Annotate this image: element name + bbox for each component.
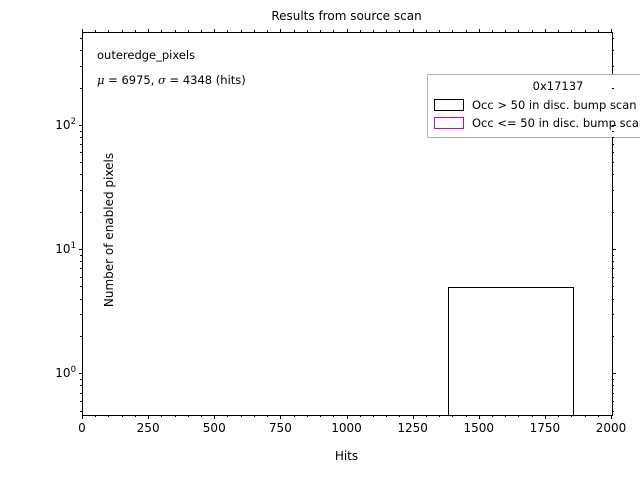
y-tick-minor-right <box>612 190 614 191</box>
y-tick-minor-right <box>612 401 614 402</box>
x-tick-minor <box>373 415 374 417</box>
x-tick-label: 500 <box>203 421 226 435</box>
x-tick-minor <box>598 415 599 417</box>
y-tick-major <box>79 125 83 126</box>
x-tick-minor <box>386 415 387 417</box>
y-tick-minor-right <box>612 393 614 394</box>
x-tick-minor <box>585 415 586 417</box>
x-tick-minor <box>426 415 427 417</box>
y-tick-major-right <box>612 373 616 374</box>
x-tick-minor <box>161 415 162 417</box>
x-tick-minor-top <box>201 30 202 32</box>
annotation-statistics: μ = 6975, σ = 4348 (hits) <box>97 68 246 93</box>
x-tick-minor <box>452 415 453 417</box>
chart-title: Results from source scan <box>82 9 611 23</box>
y-tick-minor <box>80 299 82 300</box>
x-tick-minor-top <box>294 30 295 32</box>
y-axis-label: Number of enabled pixels <box>102 39 116 421</box>
x-tick-minor <box>122 415 123 417</box>
x-tick-major-top <box>214 29 215 33</box>
x-tick-label: 1750 <box>530 421 561 435</box>
x-tick-minor <box>439 415 440 417</box>
x-tick-minor-top <box>598 30 599 32</box>
stats-units-close: ) <box>241 73 246 87</box>
x-tick-major <box>148 415 149 419</box>
y-tick-minor-right <box>612 66 614 67</box>
x-tick-minor <box>227 415 228 417</box>
x-tick-minor <box>135 415 136 417</box>
x-tick-minor-top <box>241 30 242 32</box>
x-tick-minor <box>558 415 559 417</box>
x-tick-minor <box>466 415 467 417</box>
sigma-value: 4348 <box>183 73 212 87</box>
x-tick-major-top <box>545 29 546 33</box>
plot-area: outeredge_pixels μ = 6975, σ = 4348 (hit… <box>82 32 613 416</box>
x-tick-major-top <box>82 29 83 33</box>
y-tick-minor-right <box>612 144 614 145</box>
x-tick-minor-top <box>307 30 308 32</box>
y-tick-minor-right <box>612 212 614 213</box>
y-tick-minor-right <box>612 174 614 175</box>
y-tick-minor-right <box>612 255 614 256</box>
y-tick-minor <box>80 379 82 380</box>
x-tick-label: 1250 <box>397 421 428 435</box>
y-tick-minor-right <box>612 277 614 278</box>
y-tick-minor-right <box>612 131 614 132</box>
y-tick-minor <box>80 268 82 269</box>
y-tick-minor-right <box>612 137 614 138</box>
y-tick-minor <box>80 393 82 394</box>
x-tick-minor-top <box>452 30 453 32</box>
legend-item[interactable]: Occ > 50 in disc. bump scan <box>434 96 640 114</box>
y-tick-minor <box>80 277 82 278</box>
y-tick-minor-right <box>612 261 614 262</box>
y-tick-minor <box>80 385 82 386</box>
y-tick-minor <box>80 174 82 175</box>
y-tick-major <box>79 373 83 374</box>
stats-separator: , <box>151 73 158 87</box>
annotation-dataset-label: outeredge_pixels <box>97 43 246 68</box>
x-tick-label: 1000 <box>331 421 362 435</box>
x-tick-major <box>479 415 480 419</box>
y-tick-minor <box>80 411 82 412</box>
x-tick-major <box>82 415 83 419</box>
x-tick-major <box>611 415 612 419</box>
y-tick-major-right <box>612 249 616 250</box>
y-tick-minor-right <box>612 385 614 386</box>
x-tick-minor-top <box>492 30 493 32</box>
y-tick-minor-right <box>612 268 614 269</box>
x-tick-minor <box>320 415 321 417</box>
x-tick-minor <box>492 415 493 417</box>
legend-color-patch <box>434 117 464 129</box>
y-tick-minor-right <box>612 299 614 300</box>
x-tick-minor <box>241 415 242 417</box>
y-tick-minor <box>80 162 82 163</box>
x-tick-minor <box>267 415 268 417</box>
x-tick-minor-top <box>399 30 400 32</box>
x-tick-minor-top <box>386 30 387 32</box>
sigma-equals: = <box>166 73 183 87</box>
y-tick-minor <box>80 88 82 89</box>
x-tick-major <box>413 415 414 419</box>
x-tick-minor-top <box>333 30 334 32</box>
y-tick-minor <box>80 314 82 315</box>
units-label: hits <box>220 73 241 87</box>
x-tick-minor-top <box>466 30 467 32</box>
y-tick-minor <box>80 401 82 402</box>
y-tick-minor-right <box>612 152 614 153</box>
y-tick-minor-right <box>612 38 614 39</box>
legend-rows: Occ > 50 in disc. bump scanOcc <= 50 in … <box>434 96 640 132</box>
y-tick-minor <box>80 144 82 145</box>
y-tick-minor <box>80 66 82 67</box>
y-tick-label: 101 <box>40 242 76 256</box>
legend-item-label: Occ <= 50 in disc. bump scan <box>472 117 640 130</box>
y-tick-minor-right <box>612 336 614 337</box>
x-tick-minor-top <box>267 30 268 32</box>
x-tick-minor-top <box>254 30 255 32</box>
x-tick-major <box>214 415 215 419</box>
x-tick-minor <box>505 415 506 417</box>
x-tick-minor <box>201 415 202 417</box>
y-tick-minor <box>80 38 82 39</box>
x-tick-minor-top <box>505 30 506 32</box>
legend-item[interactable]: Occ <= 50 in disc. bump scan <box>434 114 640 132</box>
x-tick-label: 0 <box>78 421 86 435</box>
x-tick-minor-top <box>188 30 189 32</box>
y-tick-minor-right <box>612 314 614 315</box>
y-tick-minor-right <box>612 88 614 89</box>
sigma-symbol: σ <box>158 73 166 87</box>
x-tick-minor <box>254 415 255 417</box>
y-tick-minor <box>80 50 82 51</box>
x-tick-minor <box>175 415 176 417</box>
x-tick-minor-top <box>360 30 361 32</box>
figure-canvas: Results from source scan outeredge_pixel… <box>0 0 640 480</box>
y-tick-major-right <box>612 125 616 126</box>
x-tick-major-top <box>280 29 281 33</box>
x-tick-minor-top <box>426 30 427 32</box>
y-tick-minor <box>80 137 82 138</box>
x-tick-major-top <box>413 29 414 33</box>
x-tick-minor <box>532 415 533 417</box>
y-tick-minor-right <box>612 50 614 51</box>
x-tick-minor <box>360 415 361 417</box>
y-tick-minor-right <box>612 286 614 287</box>
legend-title: 0x17137 <box>434 79 640 93</box>
legend-color-patch <box>434 99 464 111</box>
x-tick-minor <box>333 415 334 417</box>
y-tick-label: 100 <box>40 366 76 380</box>
x-tick-minor <box>518 415 519 417</box>
y-tick-minor-right <box>612 162 614 163</box>
y-tick-minor <box>80 255 82 256</box>
x-tick-label: 250 <box>137 421 160 435</box>
x-tick-minor <box>188 415 189 417</box>
x-tick-minor-top <box>558 30 559 32</box>
x-tick-minor-top <box>571 30 572 32</box>
x-tick-minor <box>571 415 572 417</box>
x-tick-minor-top <box>95 30 96 32</box>
x-axis-label: Hits <box>82 449 611 463</box>
x-tick-minor-top <box>135 30 136 32</box>
x-tick-major <box>545 415 546 419</box>
x-tick-label: 1500 <box>463 421 494 435</box>
x-tick-label: 2000 <box>596 421 627 435</box>
x-tick-major <box>347 415 348 419</box>
x-tick-major-top <box>479 29 480 33</box>
x-tick-minor-top <box>518 30 519 32</box>
x-tick-minor-top <box>227 30 228 32</box>
y-tick-minor <box>80 261 82 262</box>
x-tick-minor-top <box>122 30 123 32</box>
x-tick-minor-top <box>532 30 533 32</box>
x-tick-minor <box>294 415 295 417</box>
y-tick-major <box>79 249 83 250</box>
x-tick-minor-top <box>585 30 586 32</box>
y-tick-minor-right <box>612 379 614 380</box>
x-tick-minor-top <box>161 30 162 32</box>
x-tick-minor-top <box>439 30 440 32</box>
y-tick-minor <box>80 212 82 213</box>
x-tick-major-top <box>611 29 612 33</box>
x-tick-minor-top <box>108 30 109 32</box>
x-tick-minor-top <box>320 30 321 32</box>
x-tick-major <box>280 415 281 419</box>
x-tick-major-top <box>148 29 149 33</box>
legend: 0x17137 Occ > 50 in disc. bump scanOcc <… <box>427 74 640 138</box>
x-tick-minor <box>307 415 308 417</box>
y-tick-minor <box>80 336 82 337</box>
y-tick-minor <box>80 286 82 287</box>
y-tick-label: 102 <box>40 118 76 132</box>
y-tick-minor <box>80 190 82 191</box>
x-tick-minor <box>95 415 96 417</box>
y-tick-minor-right <box>612 411 614 412</box>
y-tick-minor <box>80 152 82 153</box>
x-tick-label: 750 <box>269 421 292 435</box>
mu-value: 6975 <box>121 73 150 87</box>
x-tick-minor-top <box>175 30 176 32</box>
x-tick-minor <box>399 415 400 417</box>
x-tick-major-top <box>347 29 348 33</box>
legend-item-label: Occ > 50 in disc. bump scan <box>472 99 637 112</box>
x-tick-minor-top <box>373 30 374 32</box>
plot-annotation: outeredge_pixels μ = 6975, σ = 4348 (hit… <box>97 43 246 93</box>
histogram-bar <box>448 287 574 415</box>
y-tick-minor <box>80 131 82 132</box>
